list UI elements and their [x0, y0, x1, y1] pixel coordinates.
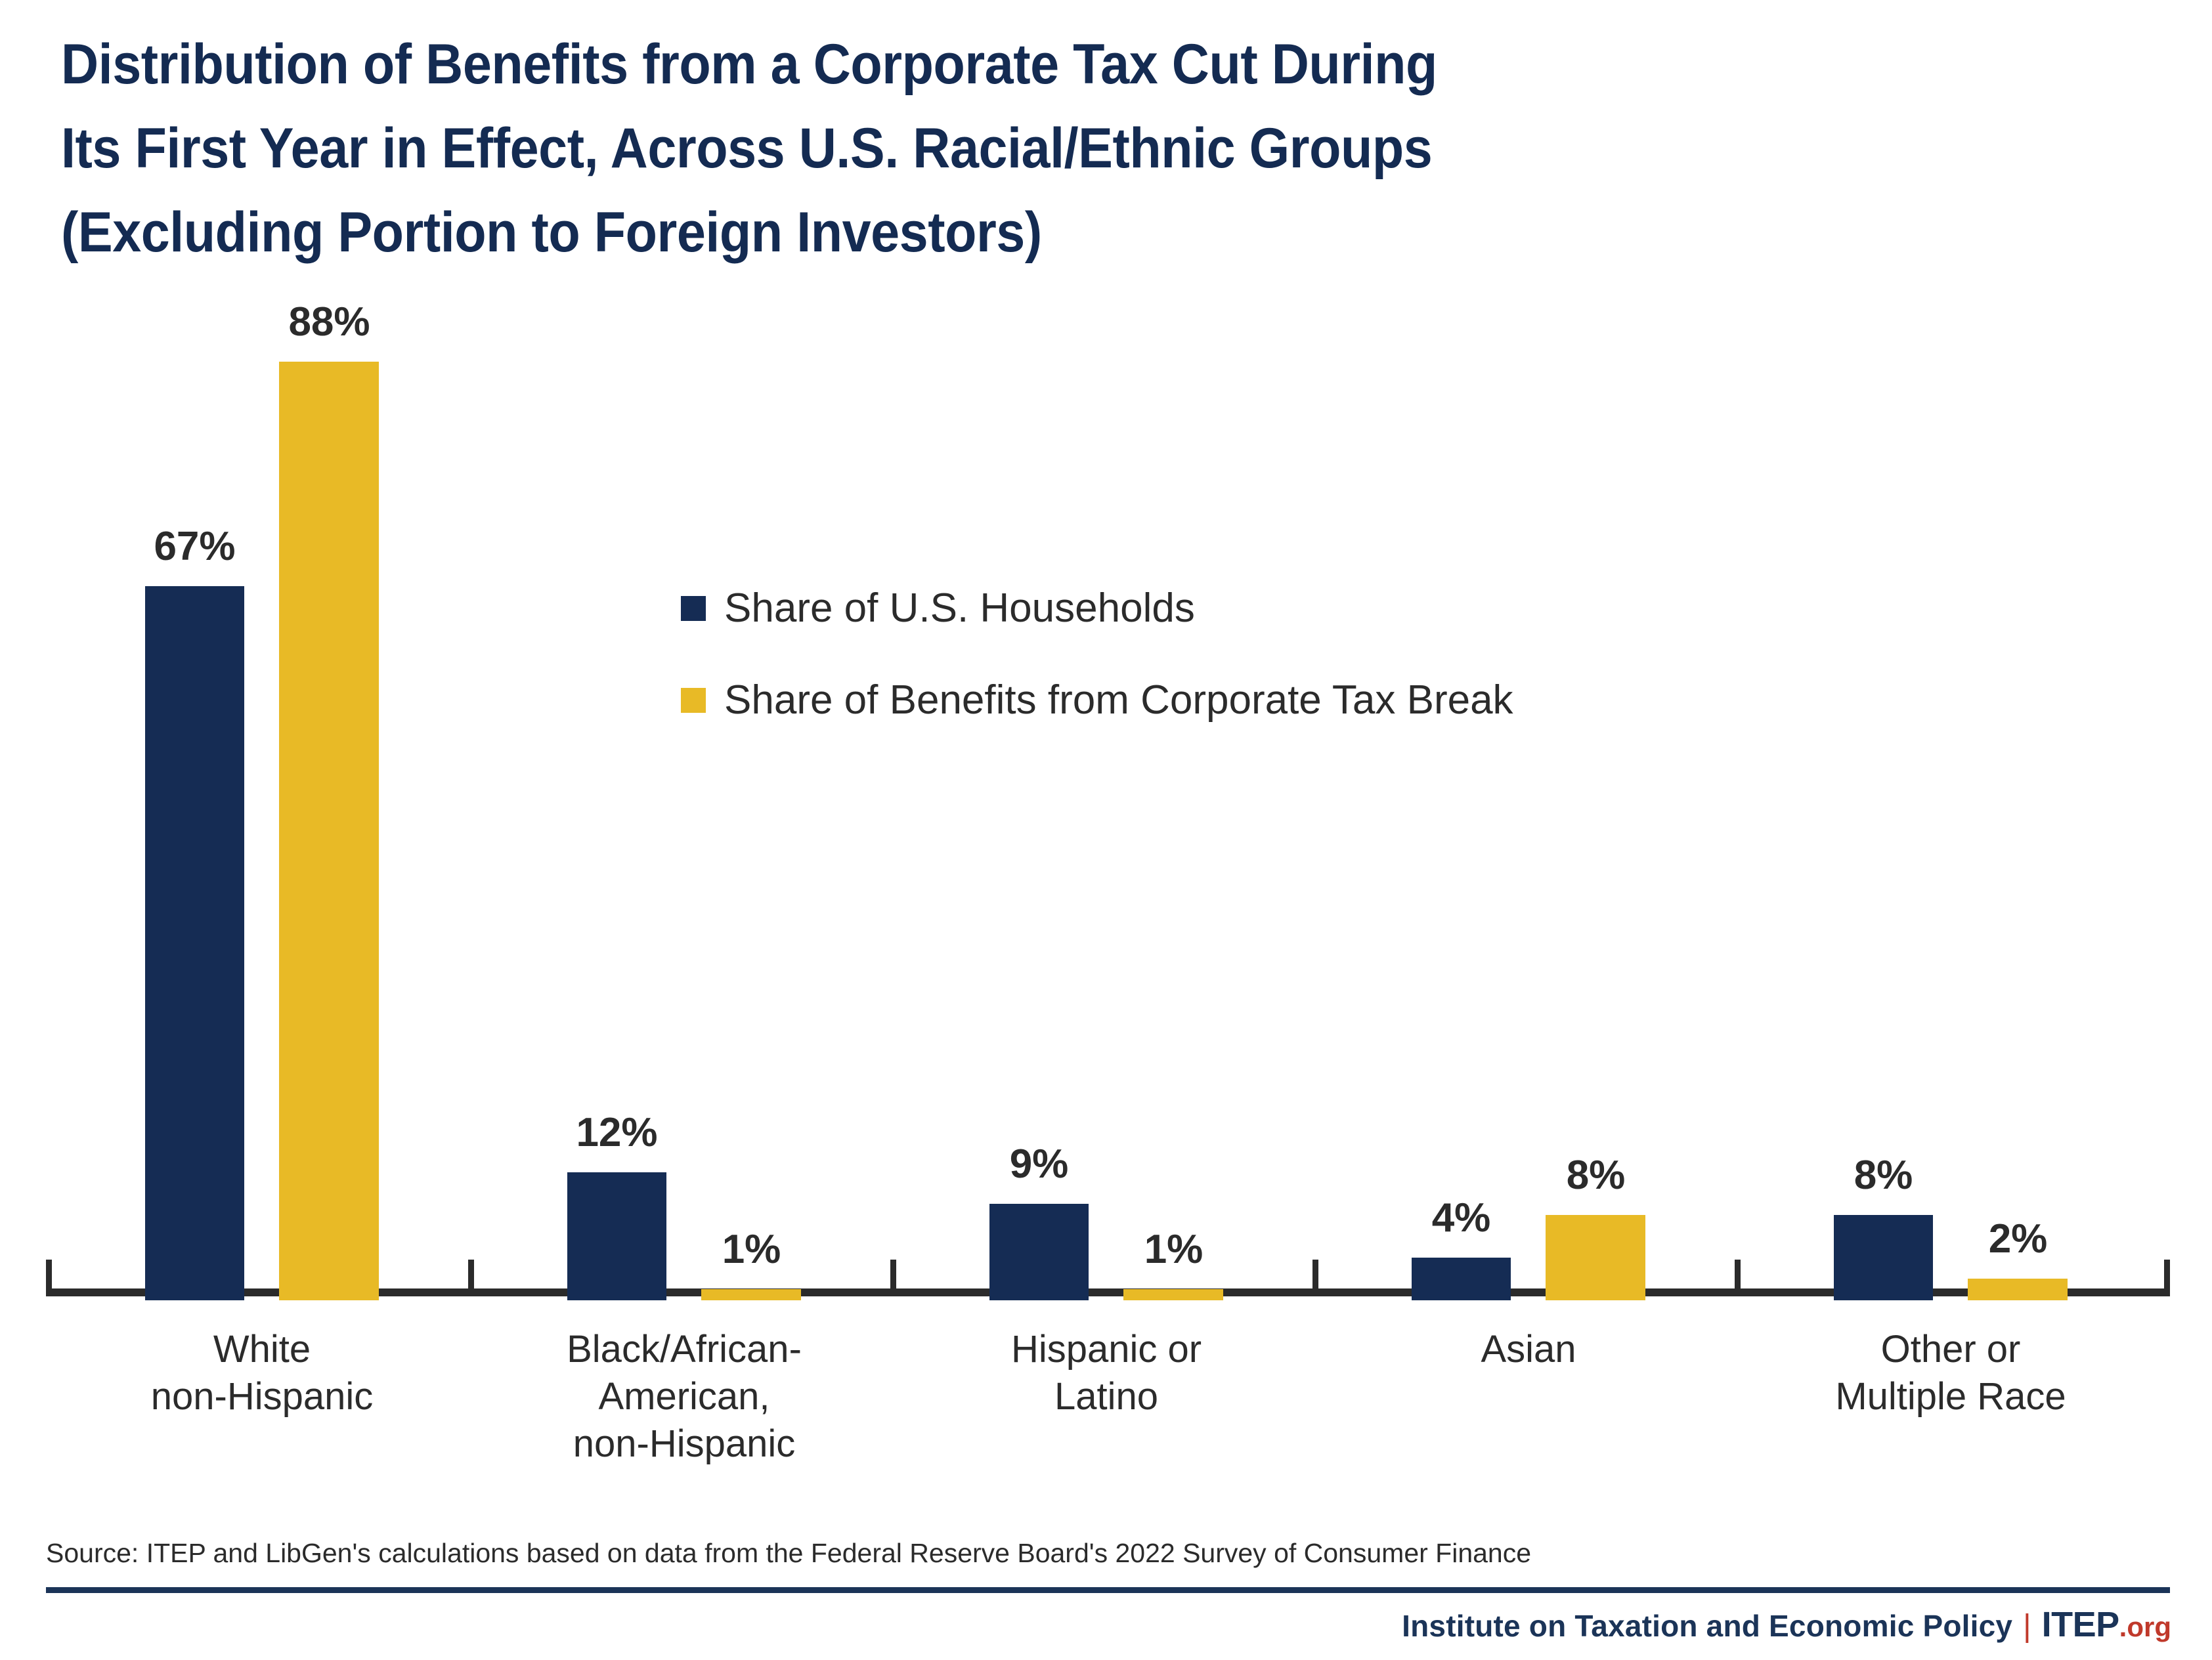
bar-black-households[interactable]	[567, 1172, 666, 1300]
bar-asian-benefits[interactable]	[1546, 1215, 1645, 1300]
bar-label-white-benefits: 88%	[253, 302, 405, 343]
title-line-1: Distribution of Benefits from a Corporat…	[61, 22, 1934, 106]
category-label-asian-line1: Asian	[1358, 1326, 1699, 1373]
axis-tick-0	[46, 1260, 52, 1290]
bar-white-households[interactable]	[145, 586, 244, 1300]
bar-label-white-households: 67%	[119, 526, 271, 567]
page-title: Distribution of Benefits from a Corporat…	[61, 22, 2096, 274]
bar-white-benefits[interactable]	[279, 362, 379, 1300]
bar-label-asian-benefits: 8%	[1520, 1155, 1672, 1196]
category-label-other: Other or Multiple Race	[1780, 1326, 2121, 1420]
bar-label-other-benefits: 2%	[1942, 1219, 2094, 1260]
brand-separator: |	[2023, 1608, 2031, 1644]
legend-label-households: Share of U.S. Households	[724, 588, 1195, 629]
itep-logo-text[interactable]: ITEP	[2042, 1604, 2119, 1645]
bar-other-households[interactable]	[1834, 1215, 1933, 1300]
chart-legend: Share of U.S. Households Share of Benefi…	[681, 583, 1513, 767]
legend-item-households[interactable]: Share of U.S. Households	[681, 583, 1513, 634]
category-label-hispanic-line2: Latino	[936, 1373, 1277, 1420]
legend-item-benefits[interactable]: Share of Benefits from Corporate Tax Bre…	[681, 675, 1513, 726]
footer-divider	[46, 1587, 2170, 1593]
category-label-other-line2: Multiple Race	[1780, 1373, 2121, 1420]
footer-brand: Institute on Taxation and Economic Polic…	[1402, 1604, 2171, 1645]
category-label-white: White non-Hispanic	[91, 1326, 433, 1420]
bar-label-other-households: 8%	[1808, 1155, 1959, 1196]
title-line-2: Its First Year in Effect, Across U.S. Ra…	[61, 106, 1934, 190]
itep-logo-tld[interactable]: .org	[2119, 1611, 2171, 1643]
bar-hispanic-benefits[interactable]	[1123, 1289, 1223, 1300]
source-note: Source: ITEP and LibGen's calculations b…	[46, 1537, 1531, 1569]
axis-tick-4	[1735, 1260, 1741, 1290]
category-label-black-line2: American,	[513, 1373, 855, 1420]
category-label-white-line1: White	[91, 1326, 433, 1373]
bar-other-benefits[interactable]	[1968, 1279, 2068, 1300]
axis-tick-3	[1312, 1260, 1318, 1290]
legend-swatch-gold-icon	[681, 688, 706, 713]
bar-label-black-benefits: 1%	[676, 1229, 827, 1270]
title-line-3: (Excluding Portion to Foreign Investors)	[61, 190, 1934, 274]
bar-label-asian-households: 4%	[1385, 1198, 1537, 1239]
category-label-black: Black/African- American, non-Hispanic	[513, 1326, 855, 1468]
axis-tick-5	[2164, 1260, 2170, 1290]
bar-label-hispanic-benefits: 1%	[1098, 1229, 1249, 1270]
bar-hispanic-households[interactable]	[989, 1204, 1089, 1300]
organization-name: Institute on Taxation and Economic Polic…	[1402, 1608, 2012, 1644]
category-label-black-line3: non-Hispanic	[513, 1420, 855, 1468]
category-label-other-line1: Other or	[1780, 1326, 2121, 1373]
category-label-black-line1: Black/African-	[513, 1326, 855, 1373]
bar-chart-plot-area: 67% 88% 12% 1% 9% 1% 4% 8% 8% 2%	[0, 282, 2212, 1316]
bar-asian-households[interactable]	[1412, 1258, 1511, 1300]
category-label-white-line2: non-Hispanic	[91, 1373, 433, 1420]
bar-label-black-households: 12%	[541, 1113, 693, 1153]
legend-swatch-navy-icon	[681, 596, 706, 621]
category-label-asian: Asian	[1358, 1326, 1699, 1373]
bar-black-benefits[interactable]	[701, 1289, 801, 1300]
category-label-hispanic: Hispanic or Latino	[936, 1326, 1277, 1420]
legend-label-benefits: Share of Benefits from Corporate Tax Bre…	[724, 680, 1513, 721]
axis-tick-1	[468, 1260, 474, 1290]
bar-label-hispanic-households: 9%	[963, 1144, 1115, 1185]
category-label-hispanic-line1: Hispanic or	[936, 1326, 1277, 1373]
axis-tick-2	[890, 1260, 896, 1290]
